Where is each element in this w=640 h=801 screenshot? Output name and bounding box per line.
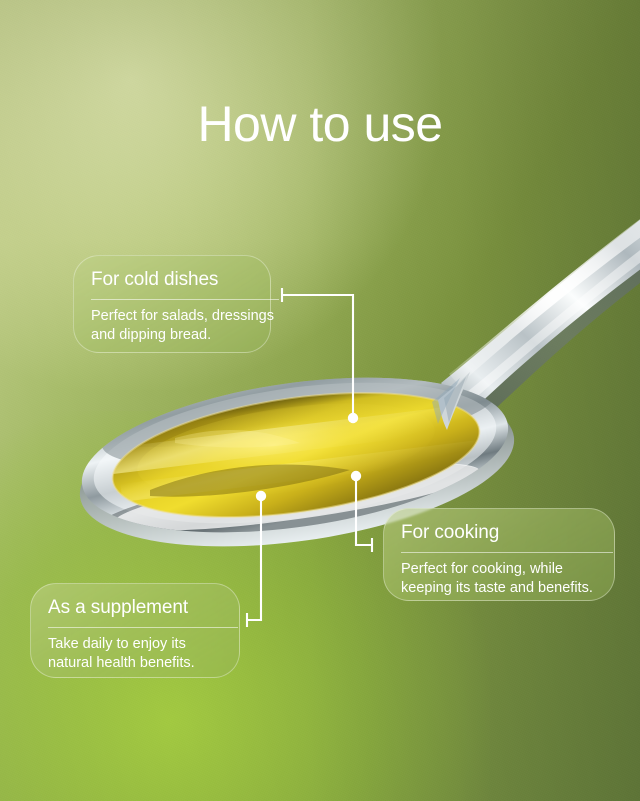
callout-body-cold-dishes: Perfect for salads, dressings and dippin…	[91, 307, 253, 346]
callout-card-cooking: For cooking Perfect for cooking, while k…	[383, 508, 615, 601]
callout-body-line: Perfect for cooking, while	[401, 561, 563, 577]
how-to-use-poster: How to use For cold dishes Perfect for s…	[0, 0, 640, 801]
callout-body-line: keeping its taste and benefits.	[401, 580, 593, 596]
callout-heading-cold-dishes: For cold dishes	[91, 269, 253, 291]
callout-body-cooking: Perfect for cooking, while keeping its t…	[401, 560, 597, 599]
callout-card-cold-dishes: For cold dishes Perfect for salads, dres…	[73, 255, 271, 353]
callout-heading-supplement: As a supplement	[48, 597, 222, 619]
callout-body-line: Perfect for salads, dressings	[91, 308, 274, 324]
callout-body-line: natural health benefits.	[48, 655, 195, 671]
callout-card-supplement: As a supplement Take daily to enjoy its …	[30, 583, 240, 678]
callout-divider	[401, 552, 613, 553]
leader-dot-cooking	[351, 471, 361, 481]
callout-divider	[91, 299, 279, 300]
leader-dot-cold-dishes	[348, 413, 358, 423]
leader-dot-supplement	[256, 491, 266, 501]
callout-body-line: and dipping bread.	[91, 327, 211, 343]
callout-body-line: Take daily to enjoy its	[48, 636, 186, 652]
callout-heading-cooking: For cooking	[401, 522, 597, 544]
callout-body-supplement: Take daily to enjoy its natural health b…	[48, 635, 222, 674]
page-title: How to use	[0, 99, 640, 149]
callout-divider	[48, 627, 238, 628]
